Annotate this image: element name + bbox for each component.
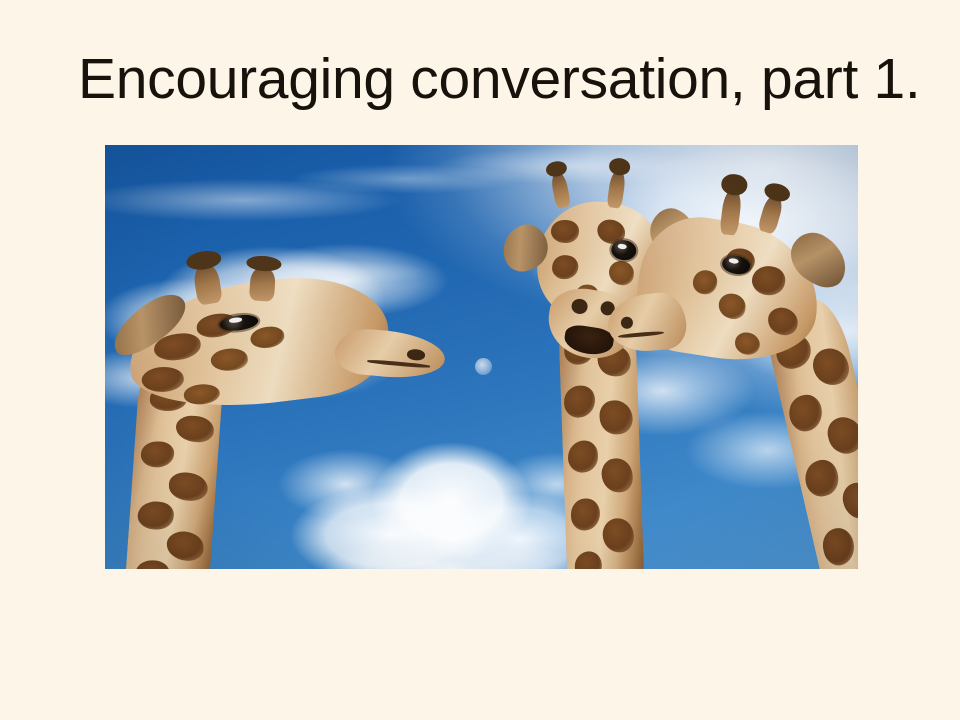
page-title: Encouraging conversation, part 1. — [78, 50, 898, 110]
giraffe-photograph — [105, 145, 858, 569]
presentation-slide: Encouraging conversation, part 1. — [0, 0, 960, 720]
photo-vignette — [105, 145, 858, 569]
